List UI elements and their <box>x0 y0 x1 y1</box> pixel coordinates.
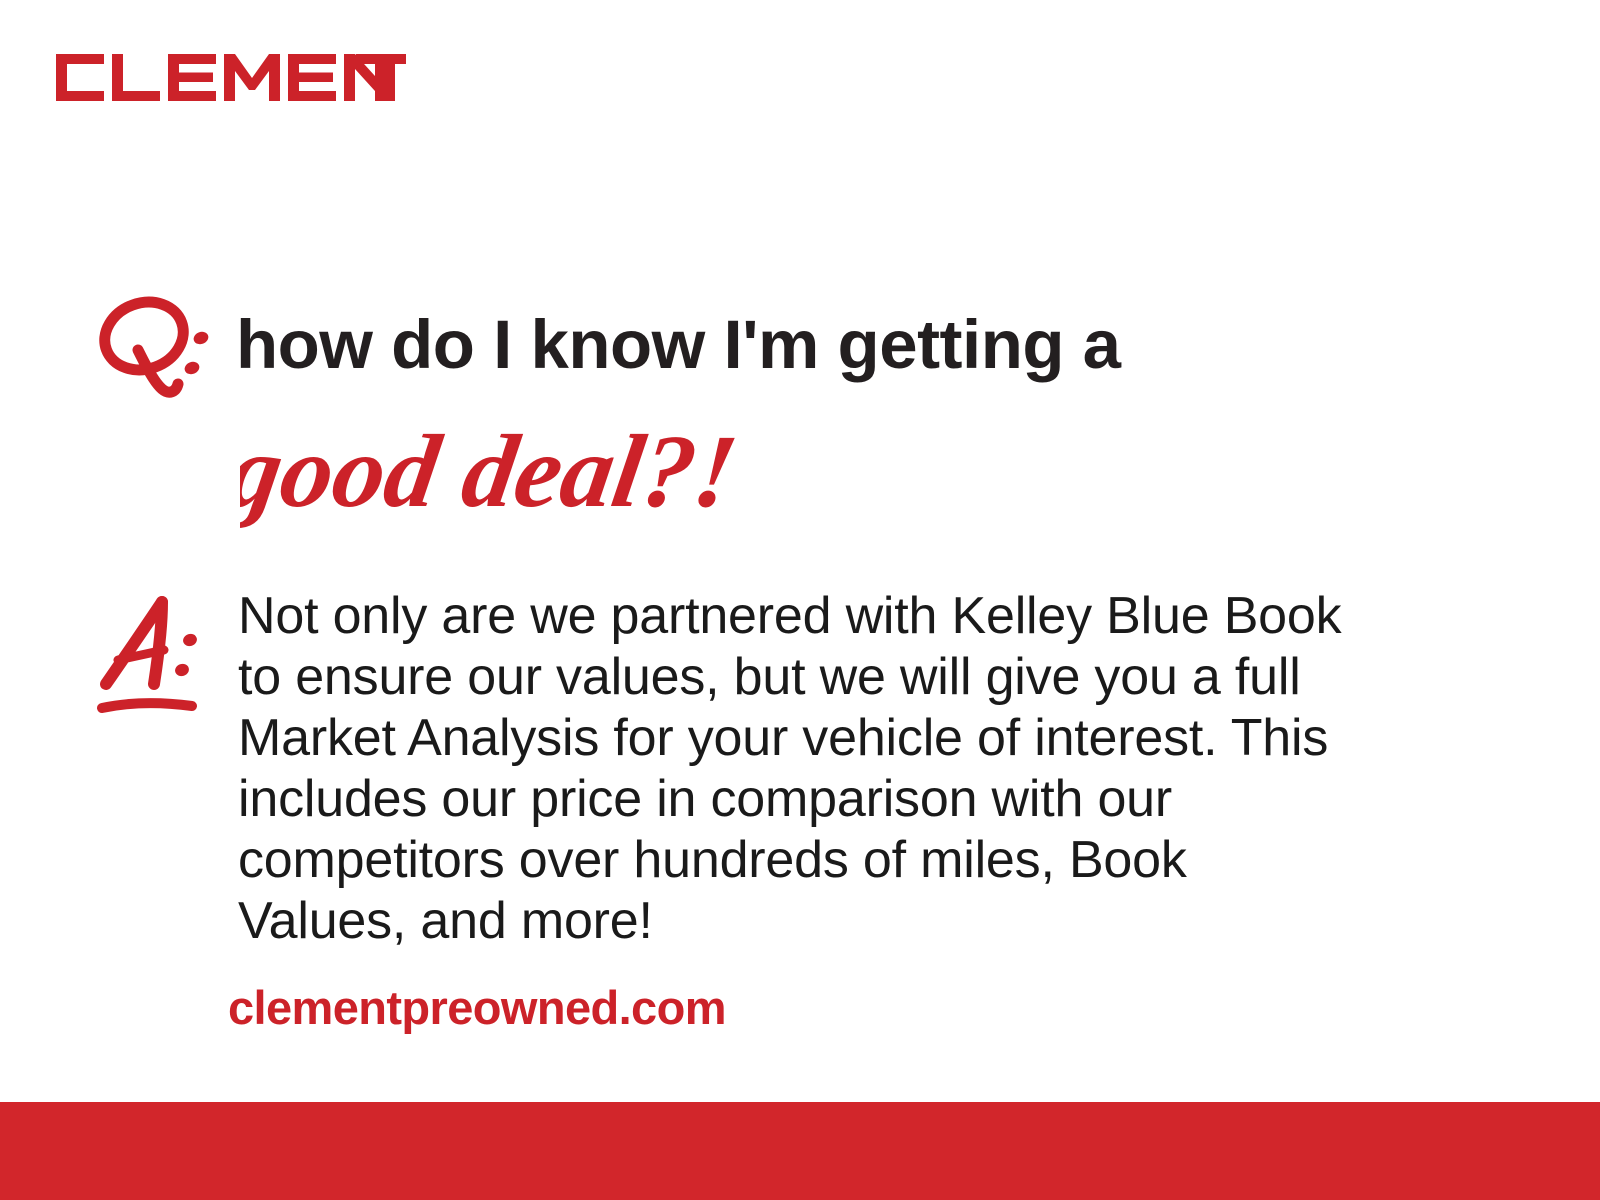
answer-line: includes our price in comparison with ou… <box>238 769 1518 830</box>
good-deal-script-icon: good deal?! <box>240 408 760 538</box>
q-script-mark-icon <box>96 288 226 408</box>
slide-canvas: how do I know I'm getting a good deal?! <box>0 0 1600 1200</box>
clement-logo[interactable] <box>56 50 406 105</box>
headline-question-script: good deal?! <box>240 408 760 538</box>
answer-line: Market Analysis for your vehicle of inte… <box>238 708 1518 769</box>
answer-line: Values, and more! <box>238 891 1518 952</box>
a-script-mark-icon <box>96 592 216 717</box>
website-link[interactable]: clementpreowned.com <box>228 980 726 1036</box>
answer-line: to ensure our values, but we will give y… <box>238 647 1518 708</box>
headline-question-line1: how do I know I'm getting a <box>236 306 1121 384</box>
answer-line: Not only are we partnered with Kelley Bl… <box>238 586 1518 647</box>
answer-marker <box>96 592 216 717</box>
answer-line: competitors over hundreds of miles, Book <box>238 830 1518 891</box>
question-marker <box>96 288 226 408</box>
good-deal-script-text: good deal?! <box>240 414 745 529</box>
footer-accent-bar <box>0 1102 1600 1200</box>
answer-paragraph: Not only are we partnered with Kelley Bl… <box>238 586 1518 952</box>
clement-wordmark-icon <box>56 50 406 105</box>
